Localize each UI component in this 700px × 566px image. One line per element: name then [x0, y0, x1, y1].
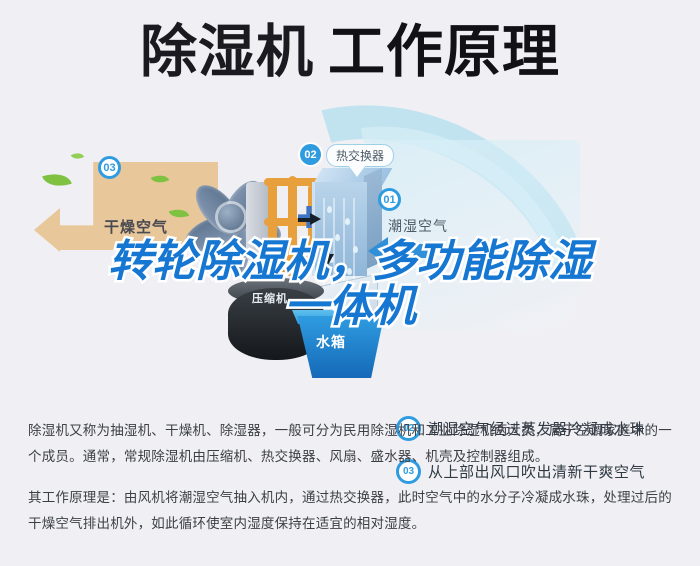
- flow-arrow-right-icon: [310, 213, 321, 225]
- body-copy: 除湿机又称为抽湿机、干燥机、除湿器，一般可分为民用除湿机和工业除湿机两大类，属于…: [28, 418, 678, 547]
- title-part-secondary: 工作原理: [328, 20, 560, 84]
- compressor-label: 压缩机: [252, 290, 288, 306]
- callout-pill-heat-exchanger: 热交换器: [326, 144, 394, 167]
- callout-badge-01: 01: [378, 188, 401, 211]
- water-tank-label: 水箱: [316, 332, 346, 352]
- flow-arrow-down-icon: [322, 254, 334, 265]
- callout-badge-02: 02: [300, 144, 321, 165]
- infographic-page: 除湿机工作原理 干燥空气 03: [0, 0, 700, 566]
- illustration-stage: 干燥空气 03: [0, 120, 700, 405]
- page-title: 除湿机工作原理: [0, 24, 700, 81]
- callout-badge-03: 03: [98, 156, 121, 179]
- title-part-primary: 除湿机: [140, 20, 314, 84]
- fan-hub-icon: [218, 204, 244, 230]
- paragraph-definition: 除湿机又称为抽湿机、干燥机、除湿器，一般可分为民用除湿机和工业除湿机两大类，属于…: [28, 418, 678, 471]
- humid-air-label: 潮湿空气: [388, 216, 448, 236]
- leaf-icon: [42, 168, 72, 191]
- dry-air-label: 干燥空气: [104, 216, 168, 237]
- dry-air-arrow-tip-icon: [34, 208, 60, 252]
- paragraph-principle: 其工作原理是：由风机将潮湿空气抽入机内，通过热交换器，此时空气中的水分子冷凝成水…: [28, 485, 678, 538]
- callout-pill-tail: [348, 165, 366, 177]
- humid-air-inflow-arrow-icon: [386, 244, 432, 258]
- leaf-icon: [71, 150, 85, 162]
